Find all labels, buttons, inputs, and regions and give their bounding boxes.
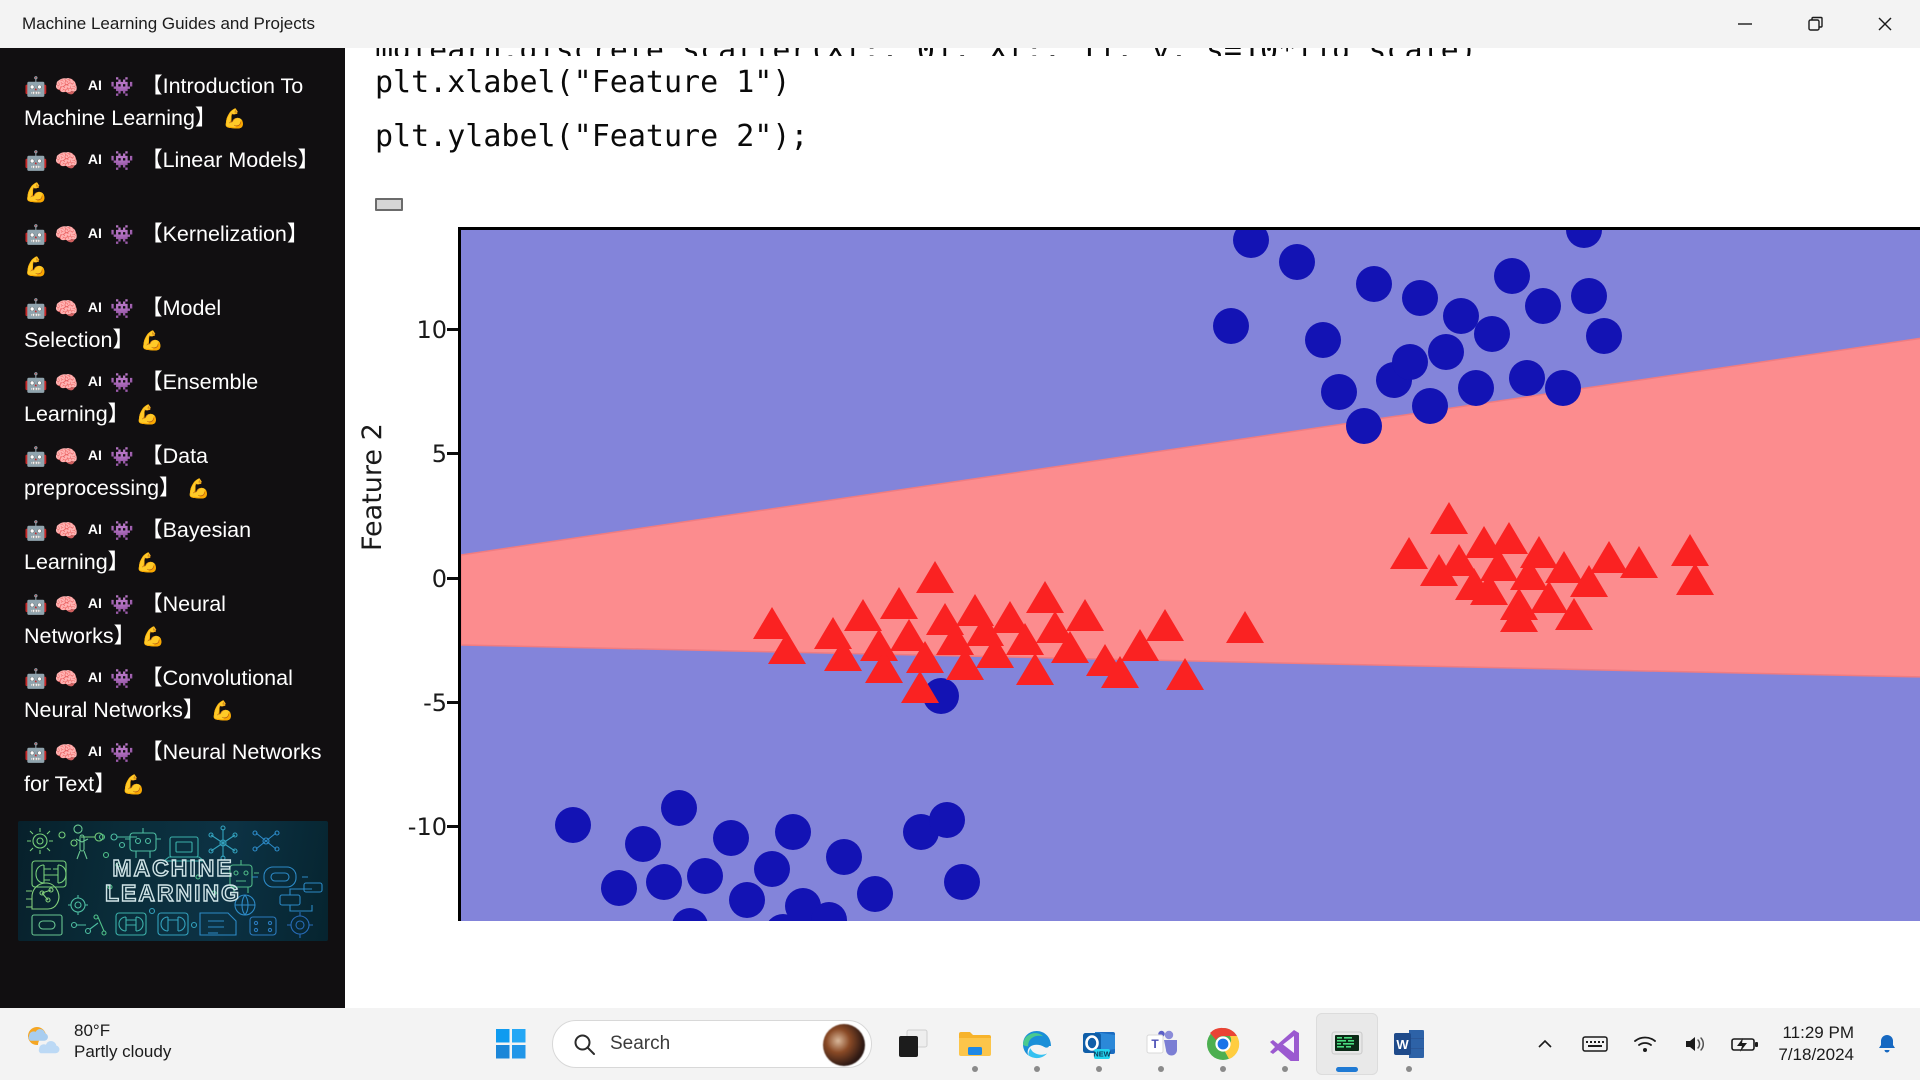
robot-brain-icons: 🤖 🧠 [24,225,86,246]
search-placeholder: Search [610,1033,670,1055]
alien-monster-icon: 👾 [104,595,141,616]
chrome-button[interactable] [1192,1013,1254,1075]
outlook-new-icon: NEW [1081,1027,1117,1061]
window-controls [1710,0,1920,48]
clock-time: 11:29 PM [1778,1022,1854,1044]
sidebar-item-model-selection[interactable]: 🤖 🧠 AI 👾 【Model Selection】 💪 [0,292,345,357]
matplotlib-figure: Feature 2 10 5 0 -5 -10 [345,221,1920,921]
sidebar-item-label: 【Kernelization】 [141,222,308,246]
taskbar-search[interactable]: Search [552,1020,872,1068]
robot-brain-icons: 🤖 🧠 [24,373,86,394]
banner-title: MACHINE LEARNING [105,856,241,906]
flexed-biceps-icon: 💪 [134,331,165,352]
flexed-biceps-icon: 💪 [204,701,235,722]
y-tick-neg5: -5 [423,689,447,717]
svg-text:NEW: NEW [1093,1050,1110,1059]
start-button[interactable] [480,1013,542,1075]
sidebar-item-linear-models[interactable]: 🤖 🧠 AI 👾 【Linear Models】 💪 [0,144,345,209]
flexed-biceps-icon: 💪 [129,405,160,426]
file-explorer-icon [957,1028,993,1060]
tick-mark [447,701,458,704]
y-tick-neg10: -10 [408,813,447,841]
sidebar-item-introduction-to-machine-learning[interactable]: 🤖 🧠 AI 👾 【Introduction To Machine Learni… [0,70,345,135]
ai-badge: AI [86,299,104,315]
flexed-biceps-icon: 💪 [135,627,166,648]
speaker-icon[interactable] [1678,1027,1712,1061]
notebook-content: mglearn.discrete_scatter(X[:, 0], X[:, 1… [345,48,1920,1008]
clock-date: 7/18/2024 [1778,1044,1854,1066]
word-button[interactable]: W [1378,1013,1440,1075]
robot-brain-icons: 🤖 🧠 [24,151,86,172]
ai-badge: AI [86,447,104,463]
wifi-icon[interactable] [1628,1027,1662,1061]
tick-mark [447,577,458,580]
weather-temperature: 80°F [74,1020,171,1041]
windows-logo-icon [496,1029,526,1059]
word-icon: W [1393,1027,1425,1061]
ai-badge: AI [86,77,104,93]
edge-button[interactable] [1006,1013,1068,1075]
ai-badge: AI [86,743,104,759]
chrome-icon [1206,1027,1240,1061]
terminal-icon [1331,1030,1363,1058]
partly-cloudy-icon [22,1023,62,1059]
sidebar[interactable]: 🤖 🧠 AI 👾 【Introduction To Machine Learni… [0,48,345,1008]
robot-brain-icons: 🤖 🧠 [24,521,86,542]
outlook-button[interactable]: NEW [1068,1013,1130,1075]
running-indicator [1220,1066,1226,1072]
flexed-biceps-icon: 💪 [216,109,247,130]
flexed-biceps-icon: 💪 [129,553,160,574]
robot-brain-icons: 🤖 🧠 [24,595,86,616]
sidebar-item-neural-networks[interactable]: 🤖 🧠 AI 👾 【Neural Networks】 💪 [0,588,345,653]
window-title: Machine Learning Guides and Projects [22,14,315,34]
active-indicator [1336,1067,1358,1072]
y-tick-0: 0 [432,565,447,593]
flexed-biceps-icon: 💪 [24,183,49,204]
code-line-xlabel[interactable]: plt.xlabel("Feature 1") [345,56,1920,110]
alien-monster-icon: 👾 [104,373,141,394]
data-points-layer [461,230,1920,921]
sidebar-item-convolutional-neural-networks[interactable]: 🤖 🧠 AI 👾 【Convolutional Neural Networks】… [0,662,345,727]
code-line-ylabel[interactable]: plt.ylabel("Feature 2"); [345,110,1920,164]
ai-badge: AI [86,595,104,611]
sidebar-item-label: 【Linear Models】 [141,148,319,172]
robot-brain-icons: 🤖 🧠 [24,669,86,690]
search-icon [573,1033,596,1056]
running-indicator [972,1066,978,1072]
running-indicator [1282,1066,1288,1072]
battery-charging-icon[interactable] [1728,1027,1762,1061]
teams-button[interactable]: T [1130,1013,1192,1075]
running-indicator [1096,1066,1102,1072]
sidebar-item-kernelization[interactable]: 🤖 🧠 AI 👾 【Kernelization】 💪 [0,218,345,283]
alien-monster-icon: 👾 [104,225,141,246]
sidebar-item-ensemble-learning[interactable]: 🤖 🧠 AI 👾 【Ensemble Learning】 💪 [0,366,345,431]
close-button[interactable] [1850,0,1920,48]
y-axis-ticks: 10 5 0 -5 -10 [345,221,447,921]
chevron-up-icon[interactable] [1528,1027,1562,1061]
ai-badge: AI [86,521,104,537]
keyboard-icon[interactable] [1578,1027,1612,1061]
running-indicator [1034,1066,1040,1072]
svg-text:T: T [1151,1037,1159,1051]
ai-badge: AI [86,669,104,685]
teams-icon: T [1144,1028,1178,1060]
bell-icon[interactable] [1870,1027,1904,1061]
class1-triangle-markers [753,502,1714,703]
ai-badge: AI [86,151,104,167]
flexed-biceps-icon: 💪 [24,257,49,278]
alien-monster-icon: 👾 [104,151,141,172]
file-explorer-button[interactable] [944,1013,1006,1075]
task-view-button[interactable] [882,1013,944,1075]
sidebar-item-neural-networks-for-text[interactable]: 🤖 🧠 AI 👾 【Neural Networks for Text】 💪 [0,736,345,801]
robot-brain-icons: 🤖 🧠 [24,77,86,98]
alien-monster-icon: 👾 [104,299,141,320]
y-tick-5: 5 [432,440,447,468]
robot-brain-icons: 🤖 🧠 [24,743,86,764]
alien-monster-icon: 👾 [104,669,141,690]
running-indicator [1158,1066,1164,1072]
plot-axes [458,227,1920,921]
flexed-biceps-icon: 💪 [116,775,147,796]
robot-brain-icons: 🤖 🧠 [24,447,86,468]
output-collapse-marker[interactable] [375,198,403,211]
tick-mark [447,825,458,828]
edge-icon [1020,1027,1054,1061]
ai-badge: AI [86,373,104,389]
vscode-button[interactable] [1254,1013,1316,1075]
task-view-icon [896,1028,930,1060]
y-tick-10: 10 [416,316,447,344]
alien-monster-icon: 👾 [104,447,141,468]
alien-monster-icon: 👾 [104,521,141,542]
machine-learning-banner-image[interactable]: MACHINE LEARNING [18,821,328,941]
clock[interactable]: 11:29 PM 7/18/2024 [1778,1022,1854,1066]
windows-taskbar: 80°F Partly cloudy Search [0,1008,1920,1080]
maximize-button[interactable] [1780,0,1850,48]
tick-mark [447,328,458,331]
robot-brain-icons: 🤖 🧠 [24,299,86,320]
vscode-icon [1268,1027,1302,1061]
taskbar-apps: Search [480,1008,1440,1080]
terminal-button[interactable] [1316,1013,1378,1075]
weather-condition: Partly cloudy [74,1041,171,1062]
svg-text:W: W [1396,1037,1409,1052]
sidebar-item-bayesian-learning[interactable]: 🤖 🧠 AI 👾 【Bayesian Learning】 💪 [0,514,345,579]
window-title-bar: Machine Learning Guides and Projects [0,0,1920,48]
ai-badge: AI [86,225,104,241]
alien-monster-icon: 👾 [104,743,141,764]
system-tray: 11:29 PM 7/18/2024 [1528,1008,1904,1080]
alien-monster-icon: 👾 [104,77,141,98]
tick-mark [447,452,458,455]
running-indicator [1406,1066,1412,1072]
flexed-biceps-icon: 💪 [181,479,212,500]
sidebar-item-data-preprocessing[interactable]: 🤖 🧠 AI 👾 【Data preprocessing】 💪 [0,440,345,505]
widget-orb-icon[interactable] [823,1024,865,1066]
weather-widget[interactable]: 80°F Partly cloudy [22,1020,171,1063]
code-line-scatter[interactable]: mglearn.discrete_scatter(X[:, 0], X[:, 1… [345,48,1920,56]
minimize-button[interactable] [1710,0,1780,48]
